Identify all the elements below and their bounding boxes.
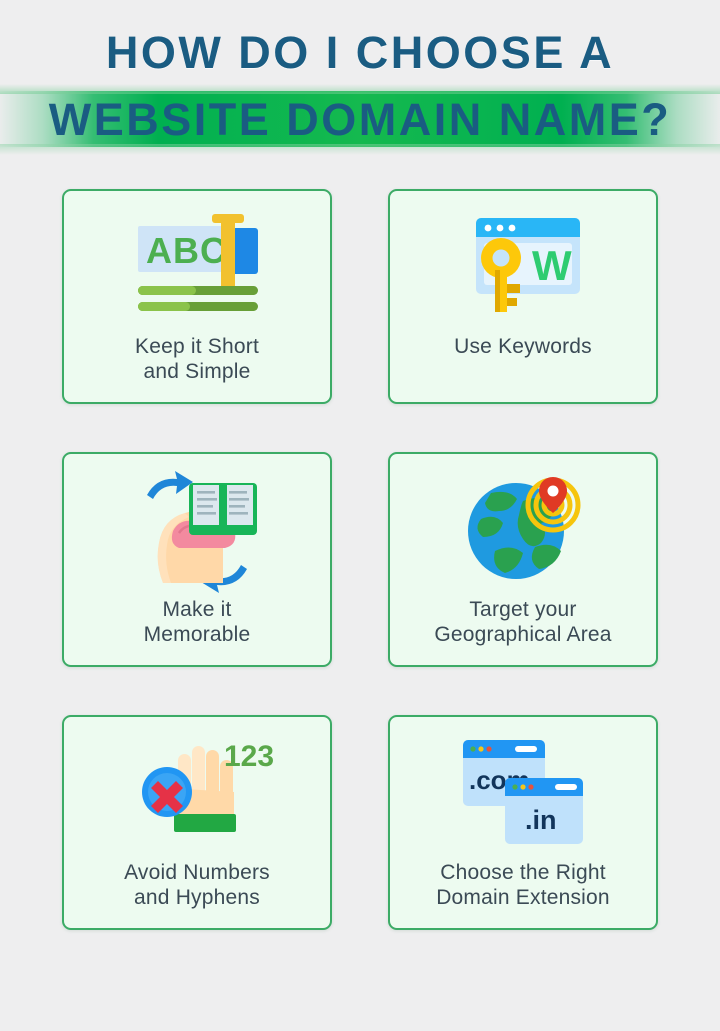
card-make-it-memorable[interactable]: Make it Memorable xyxy=(62,452,332,667)
card-label: Make it Memorable xyxy=(136,598,259,648)
domain-extension-windows-icon: .com .in xyxy=(423,733,623,851)
brain-book-memory-icon xyxy=(97,470,297,588)
card-label: Target your Geographical Area xyxy=(426,598,619,648)
globe-map-pin-icon xyxy=(423,470,623,588)
svg-text:ABC: ABC xyxy=(146,230,227,271)
tips-card-grid: ABC Keep it Short and Simple xyxy=(0,189,720,930)
card-use-keywords[interactable]: W Use Keywords xyxy=(388,189,658,404)
browser-key-icon: W xyxy=(423,207,623,325)
page-title-line-1: HOW DO I CHOOSE A xyxy=(0,30,720,91)
card-keep-it-short[interactable]: ABC Keep it Short and Simple xyxy=(62,189,332,404)
abc-text-cursor-icon: ABC xyxy=(97,207,297,325)
card-label: Choose the Right Domain Extension xyxy=(428,861,618,911)
card-label: Keep it Short and Simple xyxy=(127,335,267,385)
card-target-geo-area[interactable]: Target your Geographical Area xyxy=(388,452,658,667)
svg-text:W: W xyxy=(532,242,572,289)
page-title-line-2: WEBSITE DOMAIN NAME? xyxy=(49,97,671,142)
window-in: .in xyxy=(505,778,583,844)
card-avoid-numbers-hyphens[interactable]: 123 Avoid Numbers and Hyphens xyxy=(62,715,332,930)
svg-text:123: 123 xyxy=(224,740,274,773)
title-highlight-band-wrapper: WEBSITE DOMAIN NAME? xyxy=(0,91,720,147)
stop-hand-no-numbers-icon: 123 xyxy=(97,733,297,851)
svg-text:.in: .in xyxy=(525,805,557,835)
page-header: HOW DO I CHOOSE A WEBSITE DOMAIN NAME? xyxy=(0,0,720,147)
card-choose-domain-extension[interactable]: .com .in Choose the Right Domain Extensi… xyxy=(388,715,658,930)
card-label: Avoid Numbers and Hyphens xyxy=(116,861,278,911)
card-label: Use Keywords xyxy=(446,335,600,360)
